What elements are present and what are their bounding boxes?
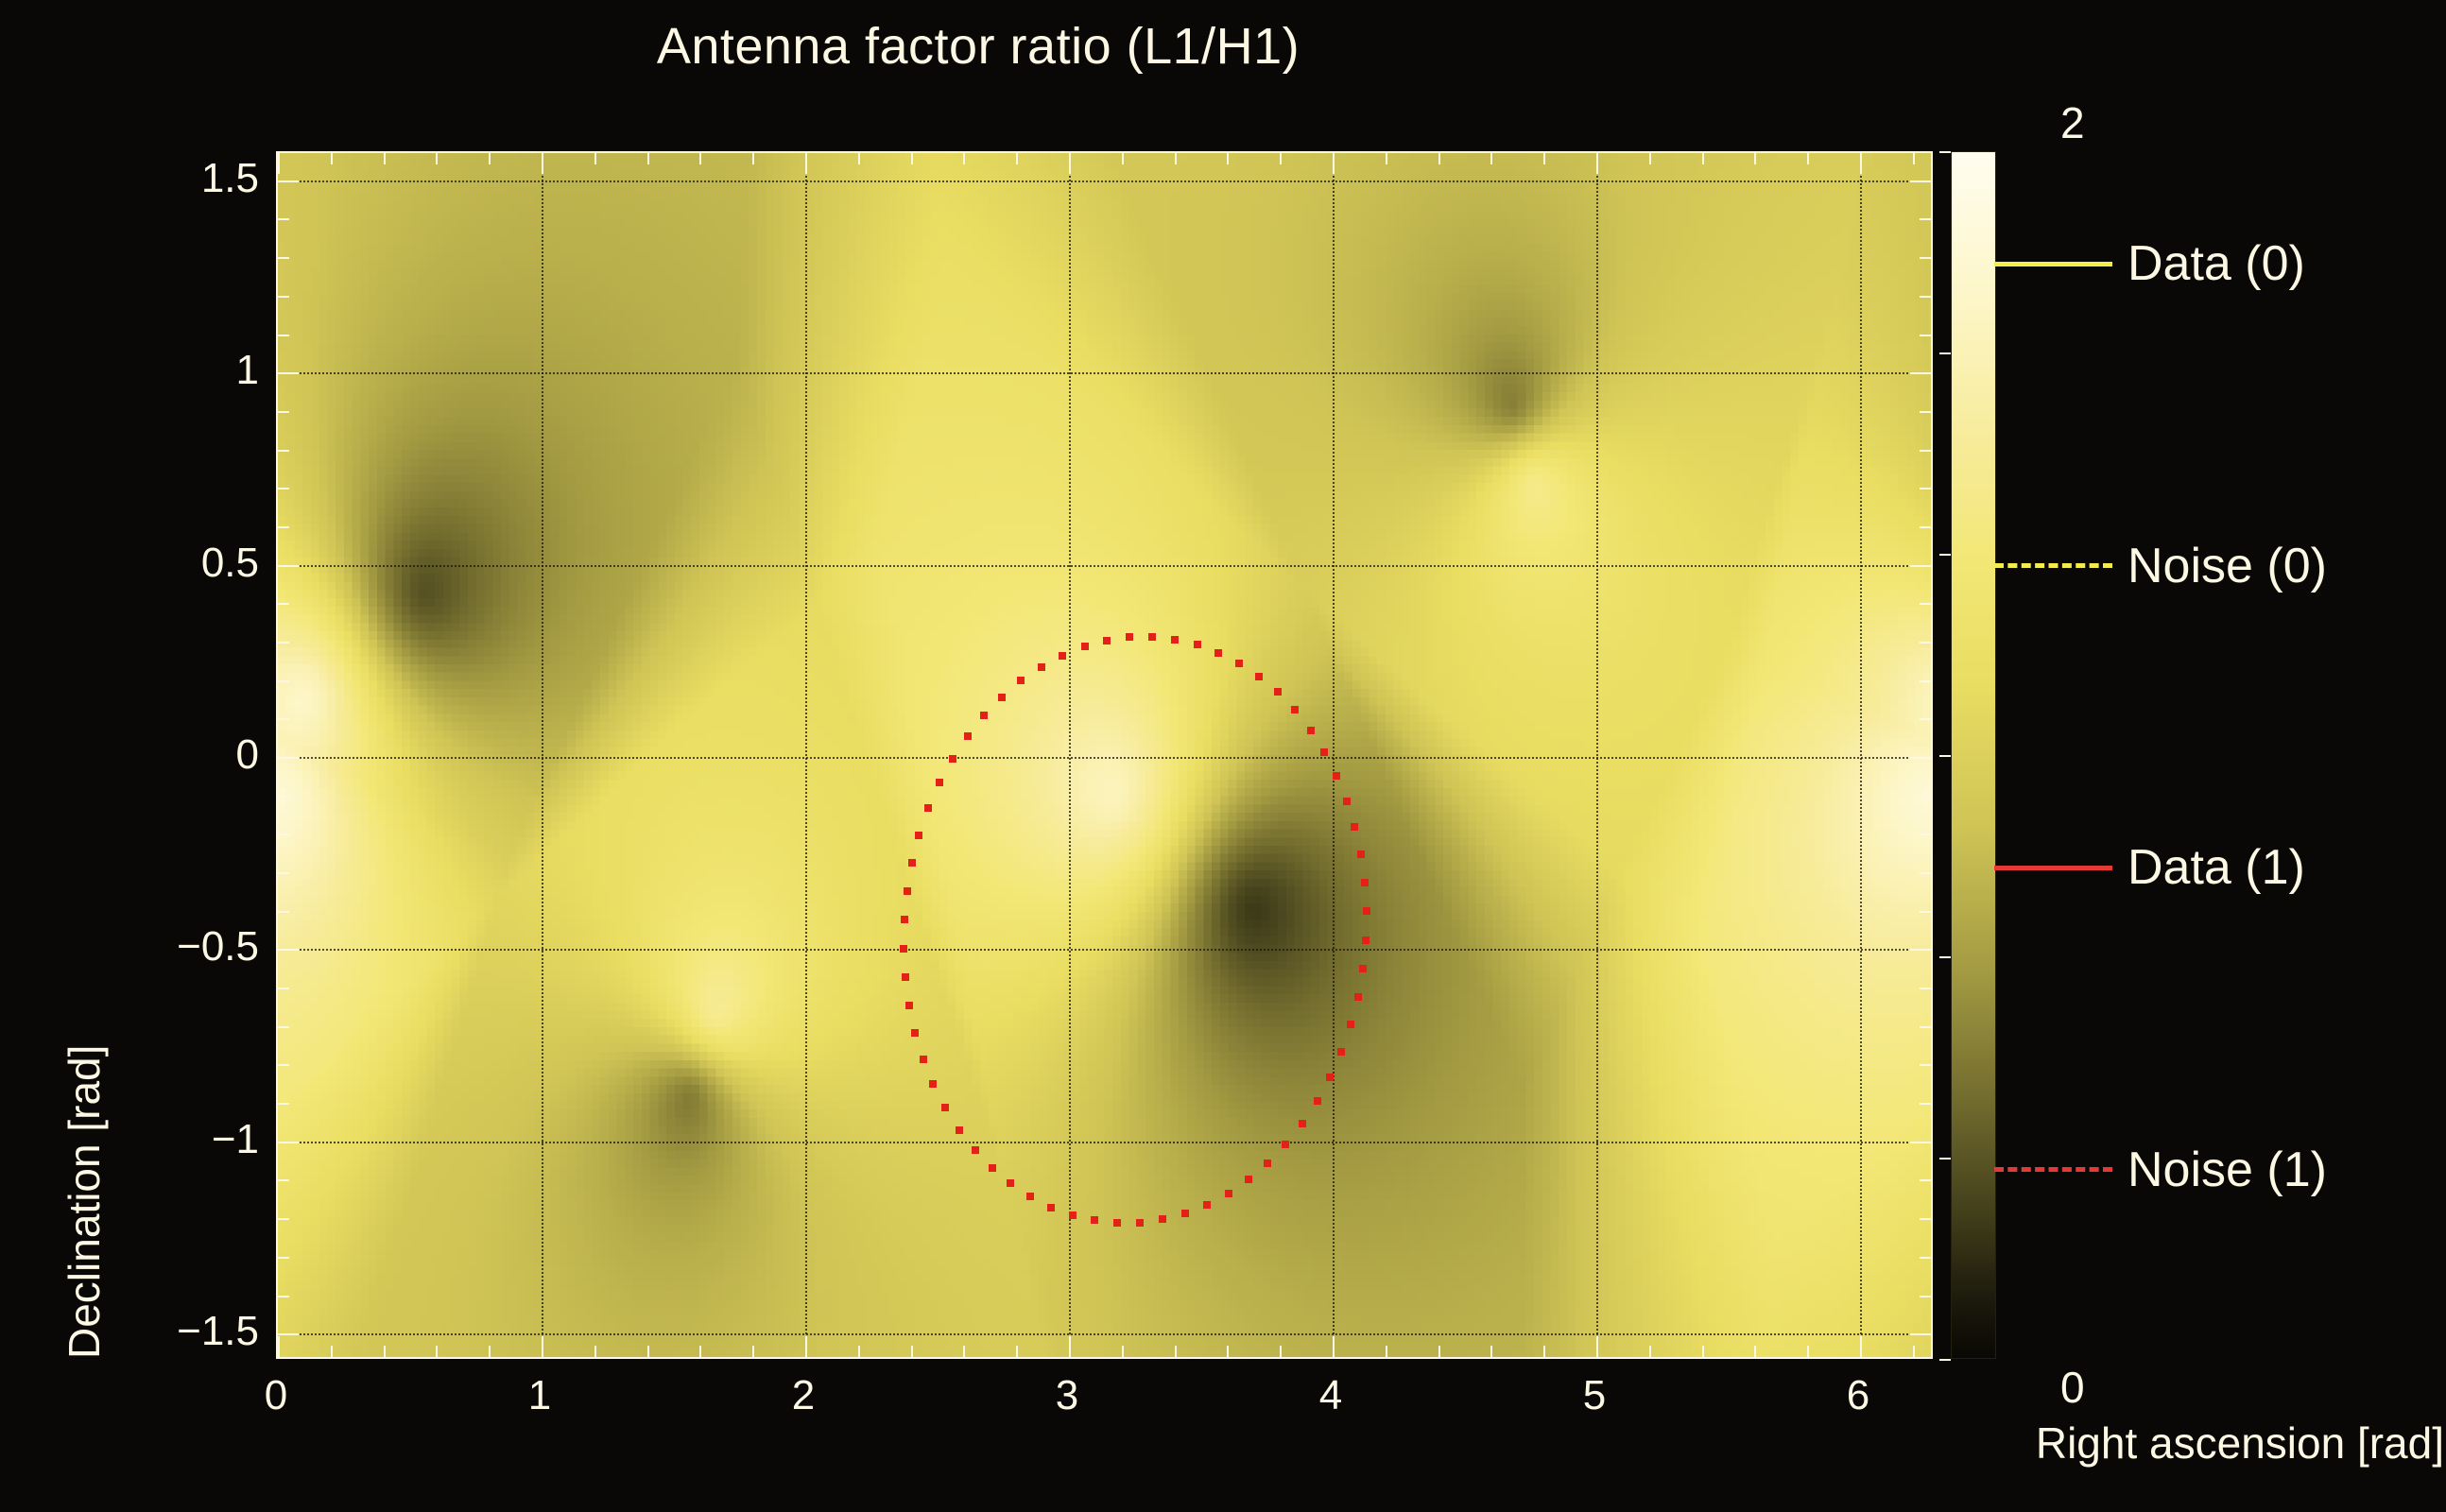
- x-tick-minor: [1386, 1346, 1387, 1357]
- y-tick-label: −1: [212, 1116, 259, 1163]
- colorbar-tick: [1939, 554, 1951, 556]
- x-tick-major: [278, 1336, 280, 1357]
- y-tick-label: 0.5: [201, 540, 259, 587]
- x-tick-minor-top: [436, 153, 438, 164]
- y-tick-label: −0.5: [177, 923, 259, 971]
- y-tick-minor: [278, 218, 289, 220]
- y-tick-minor-right: [1920, 1257, 1931, 1259]
- x-tick-label: 4: [1319, 1372, 1342, 1419]
- y-tick-minor-right: [1920, 1026, 1931, 1028]
- y-axis-title: Declination [rad]: [59, 151, 110, 1359]
- y-tick-major: [278, 1142, 299, 1143]
- x-tick-minor-top: [1280, 153, 1282, 164]
- y-tick-major-right: [1910, 949, 1931, 951]
- x-tick-minor: [1280, 1346, 1282, 1357]
- y-tick-minor-right: [1920, 1103, 1931, 1105]
- x-tick-minor: [1913, 1346, 1915, 1357]
- legend-entry[interactable]: Data (0): [1994, 235, 2438, 292]
- plot-frame: [276, 151, 1933, 1359]
- x-tick-label: 1: [528, 1372, 551, 1419]
- y-tick-minor-right: [1920, 1296, 1931, 1297]
- y-tick-minor: [278, 796, 289, 798]
- y-tick-minor-right: [1920, 1179, 1931, 1181]
- y-tick-minor-right: [1920, 450, 1931, 452]
- x-tick-minor: [1175, 1346, 1177, 1357]
- y-tick-minor-right: [1920, 218, 1931, 220]
- x-tick-minor: [858, 1346, 860, 1357]
- x-tick-minor: [1754, 1346, 1756, 1357]
- y-tick-minor-right: [1920, 642, 1931, 644]
- x-tick-minor-top: [1175, 153, 1177, 164]
- x-tick-minor: [1490, 1346, 1492, 1357]
- y-tick-major: [278, 1333, 299, 1335]
- y-tick-minor-right: [1920, 796, 1931, 798]
- x-tick-major-top: [542, 153, 543, 174]
- x-tick-minor: [1807, 1346, 1809, 1357]
- x-tick-minor: [594, 1346, 596, 1357]
- x-tick-major-top: [1860, 153, 1862, 174]
- x-axis-title: Right ascension [rad]: [2036, 1417, 2444, 1469]
- y-tick-minor: [278, 526, 289, 528]
- y-tick-minor-right: [1920, 335, 1931, 336]
- x-tick-minor-top: [752, 153, 754, 164]
- x-tick-major: [1596, 1336, 1598, 1357]
- x-tick-minor-top: [1913, 153, 1915, 164]
- colorbar-tick: [1939, 151, 1951, 153]
- x-tick-minor: [1543, 1346, 1545, 1357]
- y-tick-minor-right: [1920, 526, 1931, 528]
- page-title: Antenna factor ratio (L1/H1): [0, 17, 1956, 76]
- x-tick-minor-top: [858, 153, 860, 164]
- x-tick-minor-top: [647, 153, 649, 164]
- x-tick-major: [1860, 1336, 1862, 1357]
- x-tick-major-top: [805, 153, 807, 174]
- x-tick-minor-top: [1649, 153, 1651, 164]
- x-tick-label: 2: [792, 1372, 815, 1419]
- legend-entry[interactable]: Noise (0): [1994, 538, 2438, 594]
- y-tick-minor: [278, 296, 289, 298]
- y-tick-major: [278, 180, 299, 182]
- y-tick-minor: [278, 833, 289, 835]
- y-tick-minor: [278, 911, 289, 913]
- legend-line-sample-icon: [1994, 262, 2112, 266]
- y-tick-minor: [278, 1103, 289, 1105]
- y-tick-major-right: [1910, 372, 1931, 374]
- y-tick-minor: [278, 1064, 289, 1066]
- y-tick-minor-right: [1920, 296, 1931, 298]
- y-tick-label: 0: [236, 731, 259, 779]
- x-tick-minor-top: [1543, 153, 1545, 164]
- y-tick-major-right: [1910, 1142, 1931, 1143]
- x-tick-minor: [436, 1346, 438, 1357]
- legend-label: Noise (1): [2127, 1142, 2327, 1198]
- x-tick-minor: [384, 1346, 386, 1357]
- x-tick-minor-top: [963, 153, 965, 164]
- x-tick-minor: [752, 1346, 754, 1357]
- legend-label: Data (1): [2127, 839, 2305, 896]
- colorbar-tick: [1939, 755, 1951, 757]
- y-tick-minor: [278, 1179, 289, 1181]
- y-tick-minor: [278, 257, 289, 259]
- x-tick-minor: [647, 1346, 649, 1357]
- x-tick-major: [1333, 1336, 1335, 1357]
- colorbar: [1951, 151, 1996, 1359]
- x-tick-minor-top: [384, 153, 386, 164]
- colorbar-tick: [1939, 1158, 1951, 1160]
- x-tick-major-top: [1069, 153, 1071, 174]
- y-tick-minor: [278, 1026, 289, 1028]
- x-tick-label: 3: [1056, 1372, 1078, 1419]
- x-tick-minor: [1438, 1346, 1440, 1357]
- y-tick-minor: [278, 642, 289, 644]
- x-tick-label: 0: [265, 1372, 287, 1419]
- y-tick-major-right: [1910, 757, 1931, 759]
- x-tick-minor: [1649, 1346, 1651, 1357]
- legend-entry[interactable]: Noise (1): [1994, 1142, 2438, 1198]
- x-tick-minor-top: [1807, 153, 1809, 164]
- y-tick-minor-right: [1920, 833, 1931, 835]
- y-tick-minor-right: [1920, 988, 1931, 989]
- colorbar-tick: [1939, 1359, 1951, 1361]
- x-tick-minor: [331, 1346, 333, 1357]
- colorbar-max-label: 2: [2060, 97, 2085, 148]
- x-tick-minor: [1122, 1346, 1124, 1357]
- y-tick-major: [278, 372, 299, 374]
- y-tick-minor: [278, 872, 289, 874]
- plot-canvas: Antenna factor ratio (L1/H1) 0123456 1.5…: [0, 0, 2446, 1512]
- y-tick-major-right: [1910, 180, 1931, 182]
- colorbar-tick: [1939, 956, 1951, 958]
- y-tick-label: −1.5: [177, 1308, 259, 1355]
- y-tick-minor-right: [1920, 257, 1931, 259]
- y-tick-minor: [278, 411, 289, 413]
- legend-label: Noise (0): [2127, 538, 2327, 594]
- y-tick-minor-right: [1920, 718, 1931, 720]
- x-tick-minor: [1227, 1346, 1229, 1357]
- x-tick-minor-top: [1386, 153, 1387, 164]
- legend-line-sample-icon: [1994, 563, 2112, 568]
- x-tick-minor-top: [1016, 153, 1018, 164]
- x-tick-minor: [1702, 1346, 1704, 1357]
- y-tick-minor: [278, 680, 289, 682]
- x-tick-minor-top: [911, 153, 913, 164]
- legend-label: Data (0): [2127, 235, 2305, 292]
- x-tick-minor-top: [489, 153, 491, 164]
- y-tick-minor: [278, 488, 289, 490]
- y-tick-minor: [278, 603, 289, 605]
- x-tick-label: 6: [1847, 1372, 1869, 1419]
- x-tick-minor: [489, 1346, 491, 1357]
- y-tick-label: 1: [236, 347, 259, 394]
- legend: Data (0)Noise (0)Data (1)Noise (1): [1994, 151, 2438, 1359]
- legend-entry[interactable]: Data (1): [1994, 839, 2438, 896]
- y-tick-minor-right: [1920, 872, 1931, 874]
- y-tick-major: [278, 757, 299, 759]
- x-tick-minor-top: [1227, 153, 1229, 164]
- y-tick-major-right: [1910, 1333, 1931, 1335]
- colorbar-min-label: 0: [2060, 1362, 2085, 1413]
- x-tick-minor-top: [1438, 153, 1440, 164]
- x-tick-minor-top: [699, 153, 701, 164]
- x-tick-major-top: [278, 153, 280, 174]
- y-tick-minor-right: [1920, 911, 1931, 913]
- y-tick-minor-right: [1920, 488, 1931, 490]
- x-tick-major-top: [1333, 153, 1335, 174]
- y-tick-minor-right: [1920, 680, 1931, 682]
- y-tick-minor: [278, 450, 289, 452]
- y-tick-minor-right: [1920, 411, 1931, 413]
- x-tick-minor-top: [1122, 153, 1124, 164]
- y-tick-minor: [278, 988, 289, 989]
- y-tick-major: [278, 565, 299, 567]
- y-tick-minor-right: [1920, 1218, 1931, 1220]
- y-tick-minor: [278, 335, 289, 336]
- x-tick-minor-top: [1754, 153, 1756, 164]
- y-tick-minor: [278, 1257, 289, 1259]
- x-tick-major: [542, 1336, 543, 1357]
- x-tick-label: 5: [1583, 1372, 1606, 1419]
- x-tick-minor-top: [594, 153, 596, 164]
- legend-line-sample-icon: [1994, 1167, 2112, 1172]
- x-tick-minor: [963, 1346, 965, 1357]
- heatmap-image: [278, 153, 1931, 1357]
- y-tick-minor: [278, 718, 289, 720]
- x-tick-major: [1069, 1336, 1071, 1357]
- x-tick-minor-top: [1702, 153, 1704, 164]
- y-tick-minor: [278, 1296, 289, 1297]
- x-tick-minor: [699, 1346, 701, 1357]
- x-tick-minor-top: [1490, 153, 1492, 164]
- x-tick-minor: [1016, 1346, 1018, 1357]
- y-tick-major: [278, 949, 299, 951]
- y-tick-minor: [278, 1218, 289, 1220]
- y-tick-major-right: [1910, 565, 1931, 567]
- y-tick-label: 1.5: [201, 155, 259, 202]
- x-tick-major-top: [1596, 153, 1598, 174]
- y-tick-minor-right: [1920, 1064, 1931, 1066]
- legend-line-sample-icon: [1994, 866, 2112, 870]
- x-tick-major: [805, 1336, 807, 1357]
- x-tick-minor-top: [331, 153, 333, 164]
- y-tick-minor-right: [1920, 603, 1931, 605]
- colorbar-tick: [1939, 352, 1951, 354]
- x-tick-minor: [911, 1346, 913, 1357]
